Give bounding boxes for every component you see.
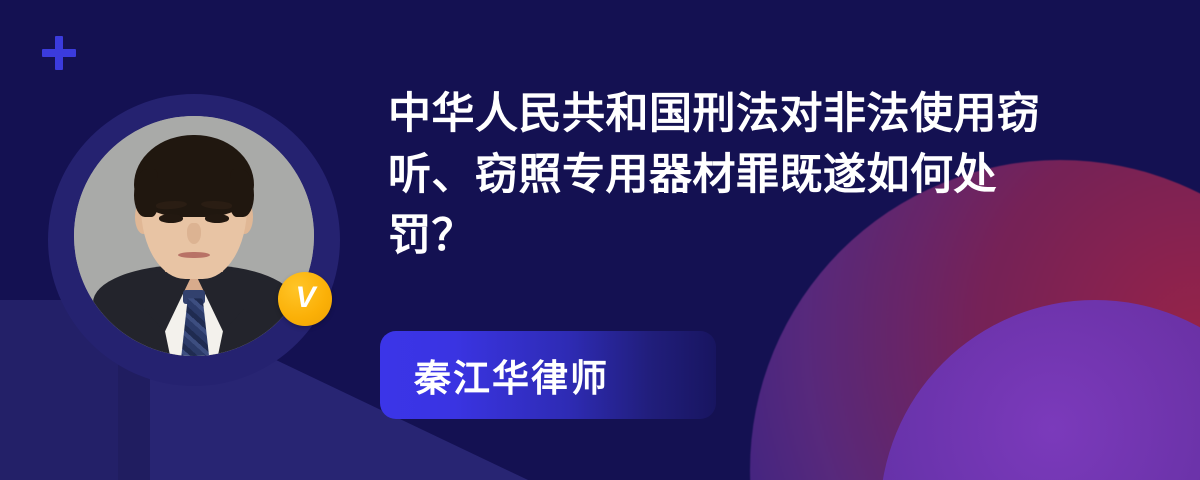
verified-badge-label: V [295,283,314,313]
legal-qa-banner: V 中华人民共和国刑法对非法使用窃听、窃照专用器材罪既遂如何处罚？ 秦江华律师 [0,0,1200,480]
plus-icon [42,36,76,70]
lawyer-name-button[interactable]: 秦江华律师 [380,331,716,419]
avatar-photo [74,116,314,356]
gradient-circle-decoration-inner [880,300,1200,480]
verified-badge-icon: V [278,272,332,326]
avatar[interactable]: V [48,94,340,386]
page-title: 中华人民共和国刑法对非法使用窃听、窃照专用器材罪既遂如何处罚？ [388,84,1048,267]
content-area: 中华人民共和国刑法对非法使用窃听、窃照专用器材罪既遂如何处罚？ [388,84,1048,267]
